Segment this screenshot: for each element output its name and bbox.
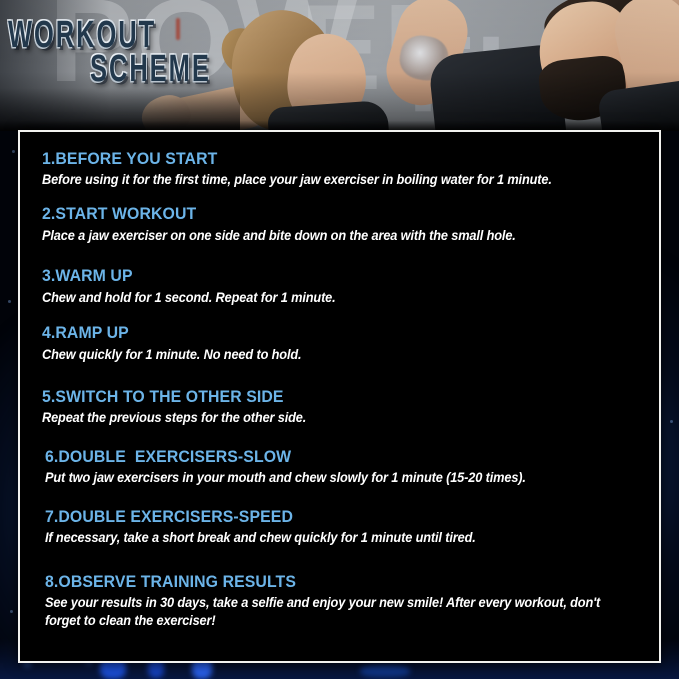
dust-speck: [10, 610, 13, 613]
step-item: 3.WARM UP Chew and hold for 1 second. Re…: [42, 267, 651, 306]
step-heading: 5.SWITCH TO THE OTHER SIDE: [42, 388, 627, 407]
title-line-2: SCHEME: [90, 52, 362, 87]
step-heading: 3.WARM UP: [42, 267, 627, 286]
step-body: Place a jaw exerciser on one side and bi…: [42, 227, 614, 245]
step-item: 8.OBSERVE TRAINING RESULTS See your resu…: [45, 573, 651, 630]
step-item: 1.BEFORE YOU START Before using it for t…: [42, 150, 651, 189]
dust-speck: [8, 300, 11, 303]
step-body: Chew and hold for 1 second. Repeat for 1…: [42, 289, 614, 307]
page-title: WORKOUT SCHEME: [8, 18, 368, 76]
step-body: Put two jaw exercisers in your mouth and…: [45, 469, 615, 487]
light-streak: [360, 665, 410, 677]
step-heading: 6.DOUBLE EXERCISERS-SLOW: [45, 448, 627, 467]
step-heading: 2.START WORKOUT: [42, 205, 627, 224]
step-body: Repeat the previous steps for the other …: [42, 409, 614, 427]
step-item: 6.DOUBLE EXERCISERS-SLOW Put two jaw exe…: [45, 448, 651, 487]
step-item: 2.START WORKOUT Place a jaw exerciser on…: [42, 205, 651, 244]
instructions-list: 1.BEFORE YOU START Before using it for t…: [20, 132, 659, 661]
step-item: 7.DOUBLE EXERCISERS-SPEED If necessary, …: [45, 508, 651, 547]
step-body: Chew quickly for 1 minute. No need to ho…: [42, 346, 614, 364]
step-item: 4.RAMP UP Chew quickly for 1 minute. No …: [42, 324, 651, 363]
step-item: 5.SWITCH TO THE OTHER SIDE Repeat the pr…: [42, 388, 651, 427]
workout-scheme-infographic: POW ER FL ST WORKOUT SCHEME 1.BEFORE: [0, 0, 679, 679]
dust-speck: [670, 420, 673, 423]
step-heading: 4.RAMP UP: [42, 324, 627, 343]
step-body: Before using it for the first time, plac…: [42, 171, 614, 189]
step-heading: 7.DOUBLE EXERCISERS-SPEED: [45, 508, 627, 527]
step-heading: 8.OBSERVE TRAINING RESULTS: [45, 573, 627, 592]
instructions-panel: 1.BEFORE YOU START Before using it for t…: [18, 130, 661, 663]
dust-speck: [12, 150, 15, 153]
step-heading: 1.BEFORE YOU START: [42, 150, 627, 169]
step-body: See your results in 30 days, take a self…: [45, 594, 615, 629]
step-body: If necessary, take a short break and che…: [45, 529, 615, 547]
